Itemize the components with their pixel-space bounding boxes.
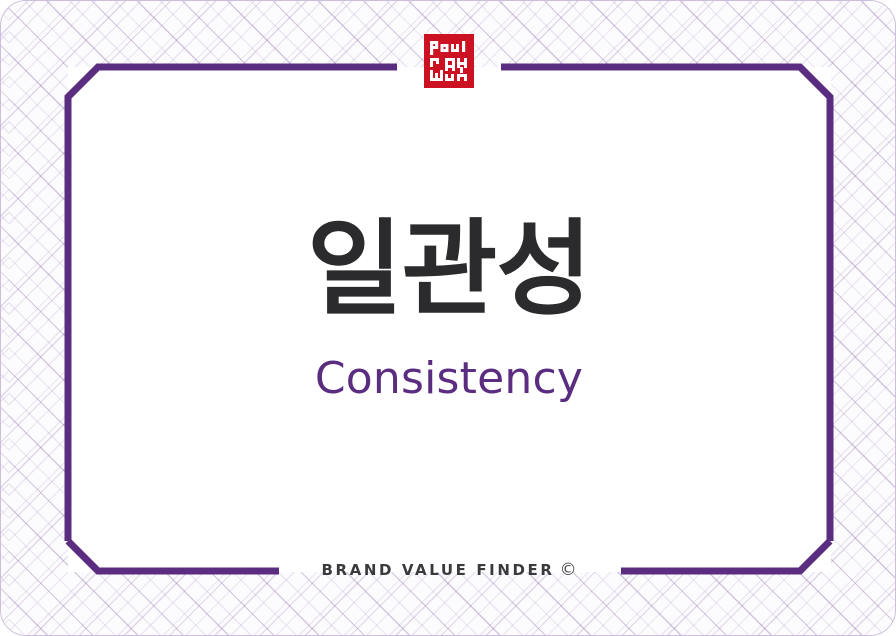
copyright-icon: © (560, 560, 577, 580)
brand-value-card: 일관성 Consistency BRAND VALUE FINDER© (0, 0, 896, 636)
page-title-korean: 일관성 (1, 213, 896, 325)
footer-brand-label: BRAND VALUE FINDER (321, 561, 554, 579)
page-subtitle-english: Consistency (1, 355, 896, 403)
footer: BRAND VALUE FINDER© (1, 560, 896, 580)
paul-seal-logo (424, 34, 474, 88)
